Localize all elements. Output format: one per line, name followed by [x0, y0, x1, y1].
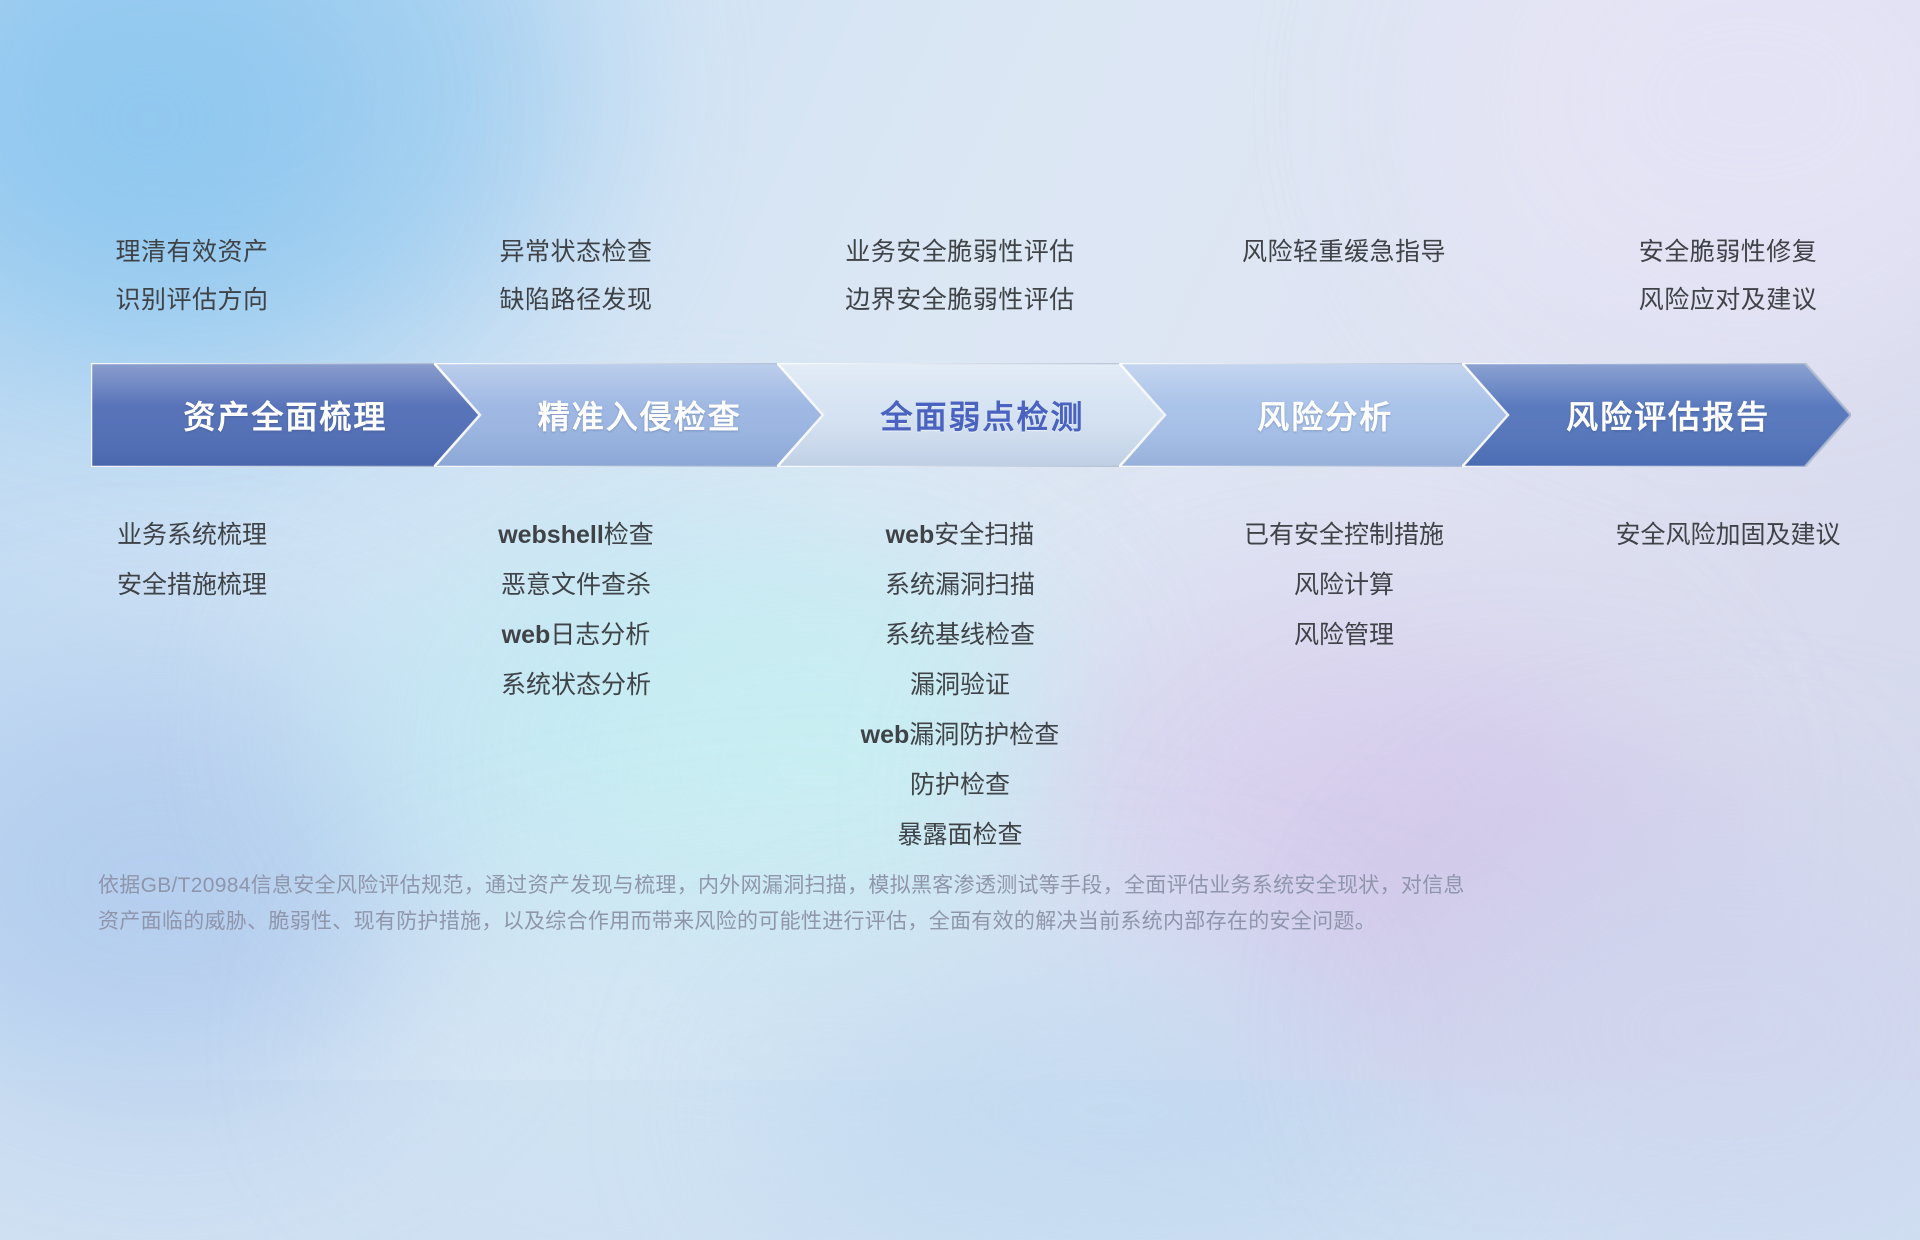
upper-label: 识别评估方向 — [0, 276, 384, 324]
detail-item: web安全扫描 — [768, 510, 1152, 560]
chevron-stage-5[interactable]: 风险评估报告 — [1462, 363, 1851, 467]
upper-label: 业务安全脆弱性评估 — [768, 228, 1152, 276]
chevron-stage-title: 风险评估报告 — [1566, 392, 1770, 438]
lower-details-stage-3: web安全扫描系统漏洞扫描系统基线检查漏洞验证web漏洞防护检查防护检查暴露面检… — [768, 510, 1152, 860]
chevron-stage-title: 全面弱点检测 — [880, 392, 1084, 438]
detail-item: 风险管理 — [1152, 610, 1536, 660]
chevron-stage-1[interactable]: 资产全面梳理 — [91, 363, 480, 467]
detail-item: 安全措施梳理 — [0, 560, 384, 610]
footnote-paragraph: 依据GB/T20984信息安全风险评估规范，通过资产发现与梳理，内外网漏洞扫描，… — [98, 868, 1618, 940]
upper-label: 风险轻重缓急指导 — [1152, 228, 1536, 276]
detail-item: web日志分析 — [384, 610, 768, 660]
upper-label: 安全脆弱性修复 — [1536, 228, 1920, 276]
footnote-line-1: 依据GB/T20984信息安全风险评估规范，通过资产发现与梳理，内外网漏洞扫描，… — [98, 868, 1618, 904]
detail-item: 暴露面检查 — [768, 810, 1152, 860]
chevron-stage-2[interactable]: 精准入侵检查 — [434, 363, 823, 467]
detail-item: 系统基线检查 — [768, 610, 1152, 660]
lower-details-stage-1: 业务系统梳理安全措施梳理 — [0, 510, 384, 610]
upper-label: 缺陷路径发现 — [384, 276, 768, 324]
detail-item: 已有安全控制措施 — [1152, 510, 1536, 560]
infographic-root: 理清有效资产识别评估方向 异常状态检查缺陷路径发现 业务安全脆弱性评估边界安全脆… — [0, 0, 1920, 1080]
lower-details-stage-2: webshell检查恶意文件查杀web日志分析系统状态分析 — [384, 510, 768, 710]
upper-labels-stage-4: 风险轻重缓急指导 — [1152, 228, 1536, 324]
upper-labels-stage-5: 安全脆弱性修复风险应对及建议 — [1536, 228, 1920, 324]
upper-label: 风险应对及建议 — [1536, 276, 1920, 324]
detail-item: 系统漏洞扫描 — [768, 560, 1152, 610]
upper-label: 异常状态检查 — [384, 228, 768, 276]
chevron-stage-title: 精准入侵检查 — [538, 392, 742, 438]
upper-label: 边界安全脆弱性评估 — [768, 276, 1152, 324]
detail-item: 业务系统梳理 — [0, 510, 384, 560]
detail-item: web漏洞防护检查 — [768, 710, 1152, 760]
detail-item: 漏洞验证 — [768, 660, 1152, 710]
detail-item: webshell检查 — [384, 510, 768, 560]
detail-item: 风险计算 — [1152, 560, 1536, 610]
process-chevron-band: 资产全面梳理精准入侵检查全面弱点检测风险分析风险评估报告 — [91, 363, 1851, 467]
detail-item: 恶意文件查杀 — [384, 560, 768, 610]
lower-details-row: 业务系统梳理安全措施梳理 webshell检查恶意文件查杀web日志分析系统状态… — [0, 510, 1920, 860]
chevron-stage-title: 风险分析 — [1257, 392, 1393, 438]
detail-item: 防护检查 — [768, 760, 1152, 810]
chevron-stage-4[interactable]: 风险分析 — [1119, 363, 1508, 467]
upper-labels-stage-1: 理清有效资产识别评估方向 — [0, 228, 384, 324]
chevron-stage-title: 资产全面梳理 — [183, 392, 387, 438]
upper-labels-row: 理清有效资产识别评估方向 异常状态检查缺陷路径发现 业务安全脆弱性评估边界安全脆… — [0, 228, 1920, 324]
upper-labels-stage-2: 异常状态检查缺陷路径发现 — [384, 228, 768, 324]
upper-labels-stage-3: 业务安全脆弱性评估边界安全脆弱性评估 — [768, 228, 1152, 324]
footnote-line-2: 资产面临的威胁、脆弱性、现有防护措施，以及综合作用而带来风险的可能性进行评估，全… — [98, 904, 1618, 940]
detail-item: 安全风险加固及建议 — [1536, 510, 1920, 560]
lower-details-stage-4: 已有安全控制措施风险计算风险管理 — [1152, 510, 1536, 660]
chevron-stage-3[interactable]: 全面弱点检测 — [777, 363, 1166, 467]
upper-label: 理清有效资产 — [0, 228, 384, 276]
lower-details-stage-5: 安全风险加固及建议 — [1536, 510, 1920, 560]
detail-item: 系统状态分析 — [384, 660, 768, 710]
